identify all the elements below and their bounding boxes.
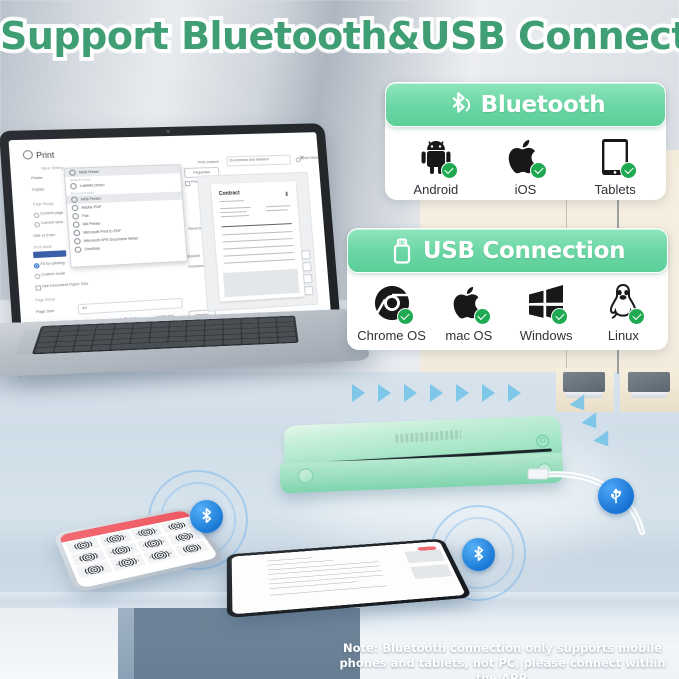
os-item-linux[interactable]: Linux: [587, 282, 659, 343]
android-icon: [415, 136, 457, 178]
printer-dropdown-menu[interactable]: M08 Printer Default Printer LaWrite Driv…: [63, 164, 187, 268]
check-badge-icon: [620, 162, 637, 179]
fax-icon: [72, 213, 79, 220]
preview-line: [266, 209, 288, 211]
section-print-mode: Print Mode: [34, 245, 52, 250]
page-title: Support Bluetooth&USB Connection: [0, 14, 679, 58]
print-icon: [23, 150, 34, 160]
preview-line: [224, 259, 295, 264]
label-current-page: Current page: [40, 211, 63, 216]
print-mode-selected: [33, 250, 66, 258]
os-item-android[interactable]: Android: [400, 136, 472, 197]
label-custom-scale: Custom scale: [41, 271, 65, 276]
printer-icon: [72, 205, 79, 211]
os-label: Android: [413, 182, 458, 197]
label-print-content: Print content: [198, 160, 219, 165]
panel-bluetooth: Bluetooth: [385, 82, 666, 200]
xps-icon: [74, 238, 81, 245]
preview-line: [224, 252, 295, 256]
linux-penguin-icon: [602, 282, 644, 324]
check-badge-icon: [474, 308, 491, 325]
bluetooth-icon: [470, 544, 488, 566]
label-odd-even: Odd or Even: [33, 233, 56, 238]
os-label: mac OS: [445, 328, 492, 343]
os-item-windows[interactable]: Windows: [510, 282, 582, 343]
check-badge-icon: [551, 308, 568, 325]
preview-line: [220, 207, 251, 209]
usb-drive-icon: [390, 236, 414, 266]
dialog-title: Print: [36, 150, 55, 160]
webcam-icon: [166, 130, 169, 133]
bluetooth-badge-tablet: [462, 538, 495, 571]
os-list-usb: Chrome OS mac OS: [347, 273, 668, 351]
footnote: Note: Bluetooth connection only supports…: [330, 641, 675, 679]
label-copies: Copies: [32, 187, 45, 192]
os-item-chrome-os[interactable]: Chrome OS: [356, 282, 428, 343]
use-doc-size-checkbox[interactable]: [35, 285, 41, 291]
panel-title-bluetooth: Bluetooth: [481, 92, 606, 118]
bluetooth-icon: [446, 90, 472, 120]
monitor-left: [563, 372, 605, 392]
printer-icon: [69, 170, 76, 176]
panel-header-bluetooth: Bluetooth: [385, 82, 666, 127]
preview-line: [220, 211, 247, 213]
monitor-right: [628, 372, 670, 392]
pdf-icon: [73, 230, 80, 237]
monitor-stand-right: [631, 392, 667, 398]
floor-area: [0, 608, 122, 679]
check-badge-icon: [628, 308, 645, 325]
os-item-mac-os[interactable]: mac OS: [433, 282, 505, 343]
radio-print-history[interactable]: [296, 157, 301, 162]
preview-line: [221, 215, 250, 217]
section-page-setup: Page Setup: [35, 297, 55, 302]
os-label: Windows: [520, 328, 573, 343]
flow-arrow: [482, 384, 495, 402]
os-label: Chrome OS: [357, 328, 426, 343]
radio-current-view[interactable]: [34, 222, 40, 227]
bluetooth-icon: [198, 506, 216, 528]
os-label: Linux: [608, 328, 639, 343]
preview-tool-button[interactable]: [304, 286, 314, 296]
section-page-range: Page Range: [33, 202, 54, 207]
desk-leg-edge: [118, 608, 134, 679]
flow-arrow: [352, 384, 365, 402]
apple-icon: [504, 136, 546, 178]
windows-icon: [525, 282, 567, 324]
preview-line: [223, 245, 294, 249]
print-preview: Contract: [197, 172, 319, 312]
printer-icon: [73, 221, 80, 228]
preview-line: [223, 238, 294, 242]
label-printer: Printer: [31, 176, 43, 181]
bluetooth-icon: [283, 189, 290, 198]
page-size-select[interactable]: [78, 298, 183, 315]
panel-header-usb: USB Connection: [347, 228, 668, 273]
preview-line: [222, 231, 293, 235]
product-feature-graphic: Support Bluetooth&USB Connection Support…: [0, 0, 679, 679]
dialog-title-row: Print: [23, 149, 55, 160]
usb-icon: [606, 486, 626, 506]
preview-line: [219, 200, 243, 202]
label-fit: Fit for printing: [40, 261, 64, 266]
preview-page: Contract: [211, 181, 305, 302]
flow-arrow: [508, 384, 521, 402]
os-label: iOS: [515, 182, 537, 197]
usb-cable: [520, 440, 670, 550]
os-item-tablets[interactable]: Tablets: [579, 136, 651, 197]
flow-arrow: [404, 384, 417, 402]
chrome-icon: [371, 282, 413, 324]
panel-title-usb: USB Connection: [423, 238, 625, 264]
page-size-value: A4: [82, 306, 87, 310]
radio-current-page[interactable]: [34, 213, 40, 218]
preview-rule: [221, 223, 292, 227]
flow-arrow: [430, 384, 443, 402]
flow-arrow: [456, 384, 469, 402]
tablet-icon: [594, 136, 636, 178]
radio-fit[interactable]: [34, 263, 40, 269]
keyboard[interactable]: [32, 316, 299, 355]
os-label: Tablets: [595, 182, 636, 197]
preview-tool-button[interactable]: [301, 250, 311, 259]
preview-tool-button[interactable]: [303, 274, 313, 283]
printer-icon: [70, 183, 77, 189]
os-list-bluetooth: Android iOS: [385, 127, 666, 205]
os-item-ios[interactable]: iOS: [489, 136, 561, 197]
radio-custom-scale[interactable]: [34, 274, 40, 280]
check-badge-icon: [397, 308, 414, 325]
check-badge-icon: [530, 162, 547, 179]
label-booklet: Booklet: [187, 254, 200, 259]
usb-badge: [598, 478, 634, 514]
onenote-icon: [75, 246, 82, 253]
document-preview: [266, 549, 400, 606]
preview-line: [266, 205, 291, 207]
apple-icon: [448, 282, 490, 324]
label-print-history: Print History: [301, 156, 321, 161]
label-current-view: Current view: [41, 220, 63, 225]
preview-block: [223, 269, 300, 298]
panel-usb: USB Connection Chrome OS: [347, 228, 668, 350]
check-badge-icon: [441, 162, 458, 179]
label-page-size: Page Size: [36, 309, 54, 314]
section-basic: Basic Setting: [41, 166, 63, 171]
flow-arrow: [378, 384, 391, 402]
desk-leg-panel: [130, 608, 360, 679]
bluetooth-badge-phone: [190, 500, 223, 533]
label-use-doc-size: Use Document Paper Size: [42, 282, 89, 289]
grayscale-checkbox[interactable]: [185, 181, 191, 186]
printer-icon: [71, 196, 78, 202]
preview-tool-button[interactable]: [302, 262, 312, 271]
